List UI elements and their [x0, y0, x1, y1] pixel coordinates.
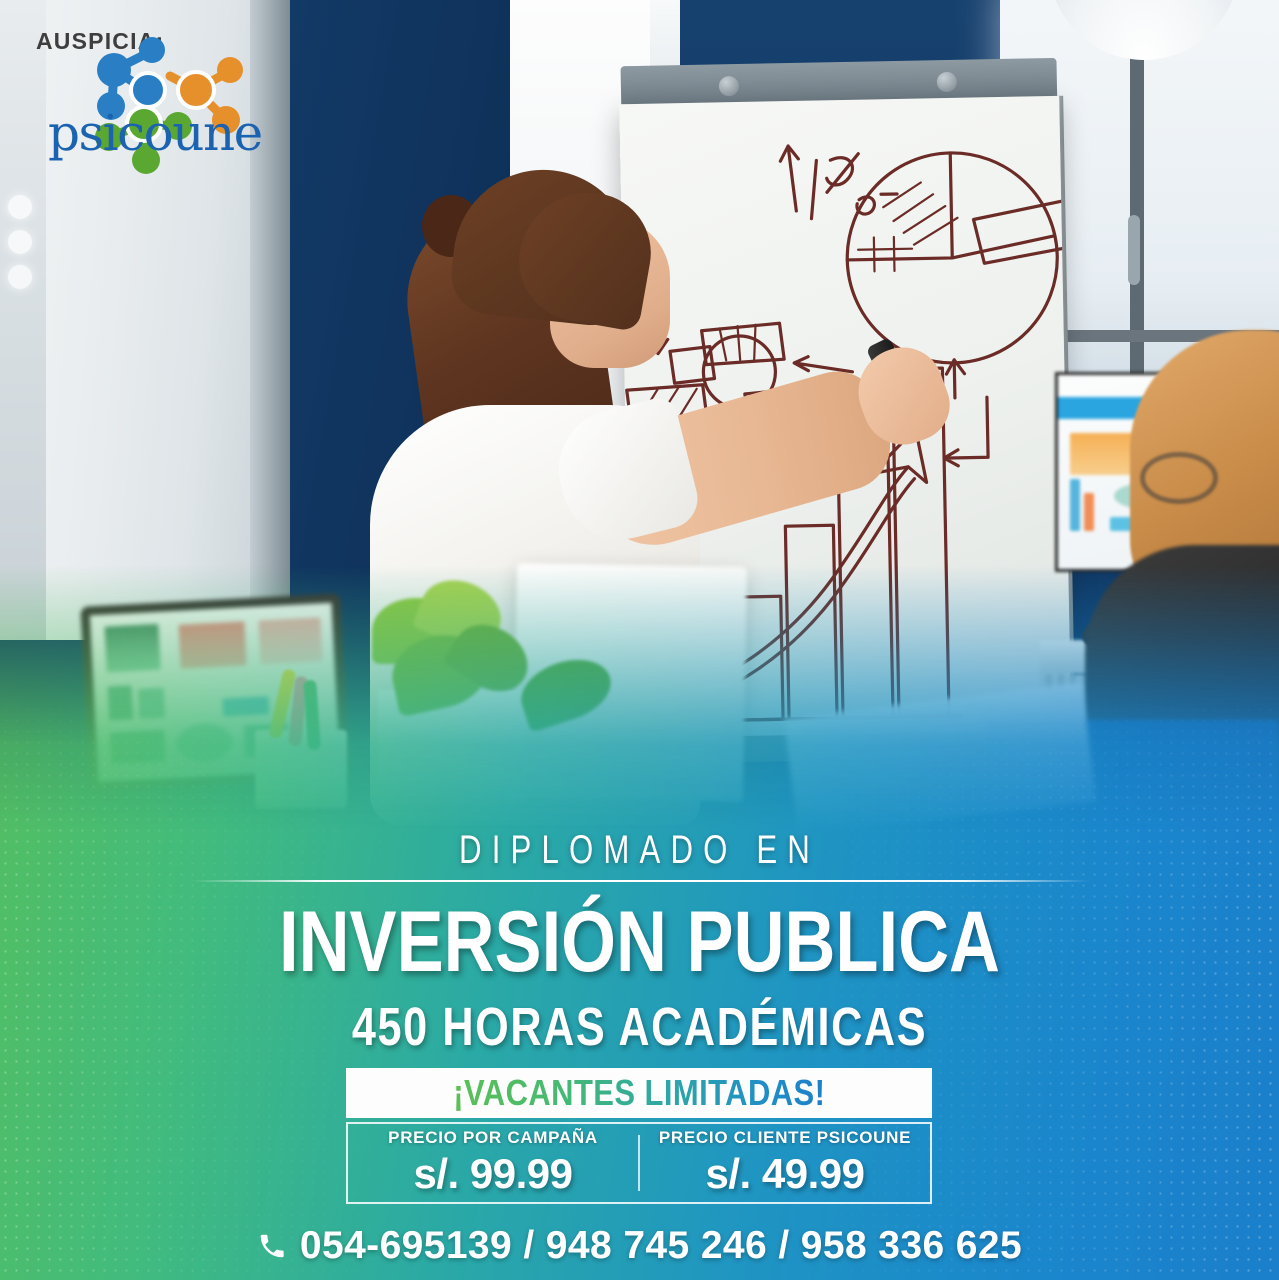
phone-numbers: 054-695139 / 948 745 246 / 958 336 625 — [300, 1224, 1022, 1268]
kicker-text: DIPLOMADO EN — [141, 828, 1139, 873]
price-column-client: PRECIO CLIENTE PSICOUNE s/. 49.99 — [640, 1124, 930, 1202]
divider-rule — [190, 880, 1090, 882]
promo-poster: AUSPICIA: — [0, 0, 1279, 1280]
price-label: PRECIO POR CAMPAÑA — [388, 1128, 598, 1148]
page-title: INVERSIÓN PUBLICA — [115, 893, 1164, 992]
vacancies-text: ¡VACANTES LIMITADAS! — [453, 1072, 825, 1114]
pricing-box: PRECIO POR CAMPAÑA s/. 99.99 PRECIO CLIE… — [346, 1122, 932, 1204]
price-amount: s/. 49.99 — [706, 1150, 865, 1198]
price-amount: s/. 99.99 — [414, 1150, 573, 1198]
contact-phones[interactable]: 054-695139 / 948 745 246 / 958 336 625 — [0, 1224, 1279, 1268]
psicoune-wordmark: psicoune — [48, 104, 262, 162]
phone-handset-icon — [257, 1231, 287, 1261]
price-column-campaign: PRECIO POR CAMPAÑA s/. 99.99 — [348, 1124, 638, 1202]
price-label: PRECIO CLIENTE PSICOUNE — [659, 1128, 911, 1148]
academic-hours: 450 HORAS ACADÉMICAS — [128, 996, 1151, 1058]
vacancies-banner: ¡VACANTES LIMITADAS! — [346, 1068, 932, 1118]
